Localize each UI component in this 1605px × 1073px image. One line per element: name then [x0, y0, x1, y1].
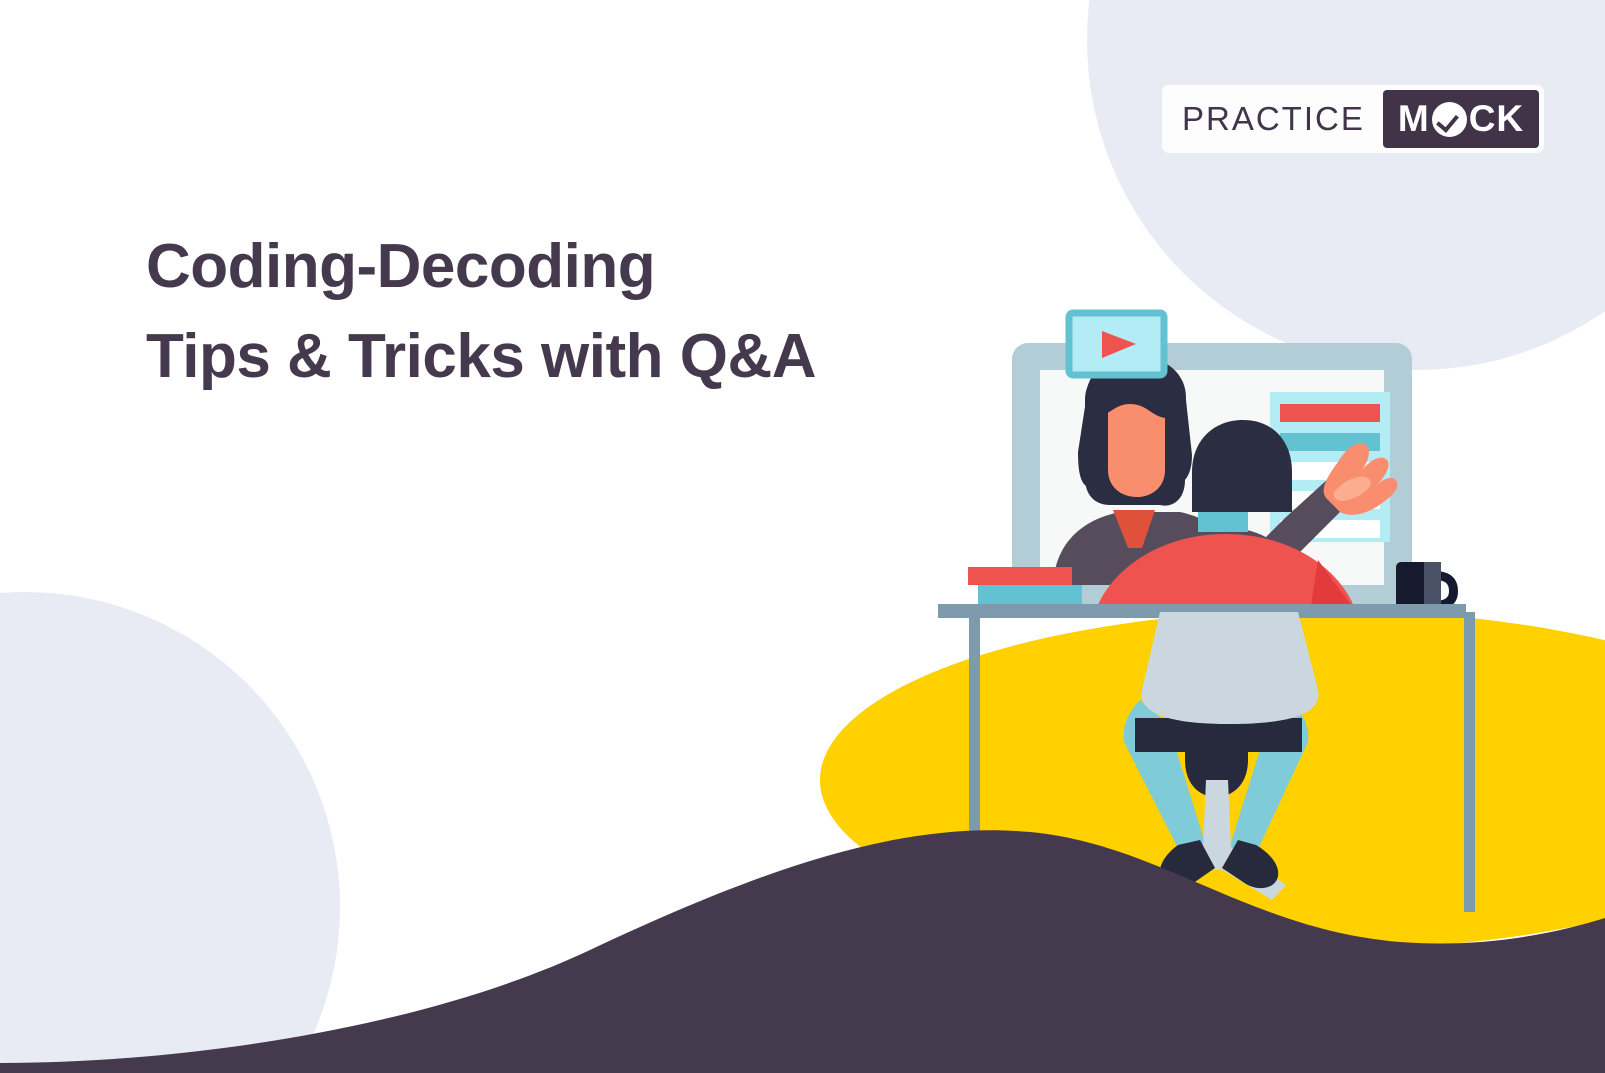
coffee-mug [1396, 562, 1458, 615]
pants-left [1124, 700, 1208, 862]
answer-list-panel [1270, 392, 1390, 542]
answer-row-red [1280, 404, 1380, 422]
person2-body [1160, 528, 1305, 600]
logo-mock-badge: M CK [1383, 90, 1539, 148]
answer-row-white-1 [1280, 462, 1380, 480]
headline-line-2: Tips & Tricks with Q&A [146, 322, 816, 391]
seated-viewer-shirt [1095, 534, 1356, 612]
brand-logo[interactable]: PRACTICE M CK [1162, 85, 1544, 153]
woman-presenter [1053, 356, 1242, 585]
monitor-screen [1040, 370, 1384, 585]
seated-viewer-lower [1124, 612, 1319, 900]
person2-hand [1324, 443, 1398, 515]
answer-row-teal [1280, 433, 1380, 451]
circle-check-icon [1432, 102, 1467, 137]
woman-hair-back [1085, 360, 1185, 506]
mug-handle [1434, 571, 1458, 610]
woman-collar [1113, 510, 1155, 548]
person2-hand-shade [1334, 477, 1371, 501]
answer-row-white-2 [1280, 491, 1380, 509]
book-red [968, 567, 1072, 585]
person2-arm [1258, 468, 1360, 570]
chair-seat-post-vertical [1185, 666, 1248, 797]
logo-practice-text: PRACTICE [1176, 100, 1383, 138]
video-play-badge [1069, 313, 1164, 375]
book-teal [978, 585, 1082, 605]
monitor-frame [1012, 343, 1412, 613]
play-triangle-icon [1102, 331, 1136, 358]
decor-circle-top-right [1087, 0, 1605, 370]
second-person-on-screen [1160, 420, 1398, 600]
woman-body [1053, 512, 1242, 585]
answer-row-white-3 [1280, 520, 1380, 538]
chair-base-right [1219, 845, 1286, 900]
chair-back [1142, 612, 1319, 724]
seated-viewer-shirt-shade [1310, 560, 1356, 612]
desk-top [938, 604, 1466, 618]
person2-collar [1198, 508, 1248, 532]
headline-line-1: Coding-Decoding [146, 232, 655, 301]
desk-leg-right [1464, 612, 1475, 912]
woman-hair-side-right [1168, 400, 1192, 484]
chair-base-left [1150, 845, 1215, 900]
desk-leg-left [969, 612, 980, 862]
mug-body [1396, 562, 1441, 615]
mug-highlight [1424, 562, 1441, 615]
floor-ellipse [820, 610, 1605, 950]
woman-hair-front [1086, 356, 1186, 418]
woman-face [1108, 400, 1165, 497]
banner-canvas: Coding-Decoding Tips & Tricks with Q&A P… [0, 0, 1605, 1073]
page-title: Coding-Decoding Tips & Tricks with Q&A [146, 222, 816, 402]
decor-circle-bottom-left [0, 592, 340, 1073]
shoe-right [1222, 840, 1278, 888]
chair-cylinder [1202, 780, 1232, 870]
logo-mock-letter-m: M [1398, 98, 1430, 140]
person2-hair [1192, 420, 1292, 512]
logo-mock-letters-ck: CK [1469, 98, 1524, 140]
chair-seat-post-horizontal [1135, 718, 1302, 752]
logo-mock-text: M CK [1398, 98, 1524, 140]
pants-right [1228, 700, 1308, 862]
shoe-left [1160, 840, 1215, 888]
woman-hair-side-left [1078, 400, 1104, 488]
